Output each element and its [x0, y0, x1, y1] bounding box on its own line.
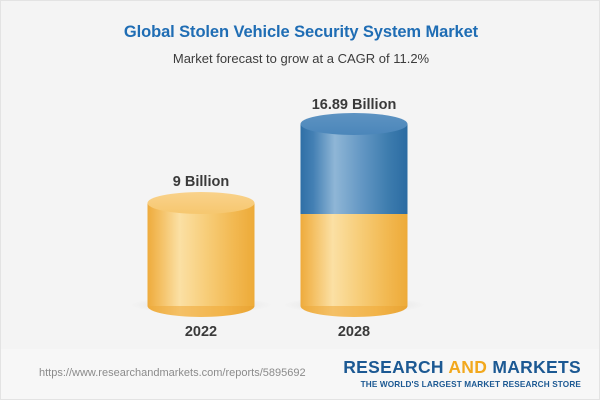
cylinder-body — [301, 214, 408, 306]
category-label-2022: 2022 — [126, 324, 276, 340]
value-label-2028: 16.89 Billion — [279, 97, 429, 113]
logo-word-markets: MARKETS — [492, 357, 581, 377]
bar-segment-base-2028 — [301, 214, 408, 306]
cylinder-cap — [148, 192, 255, 214]
logo-word-and: AND — [448, 357, 487, 377]
category-label-2028: 2028 — [279, 324, 429, 340]
cylinder-body — [301, 124, 408, 214]
value-label-2022: 9 Billion — [126, 174, 276, 190]
bar-segment-growth-2028 — [301, 124, 408, 214]
plot-area: 9 Billion 2022 16.89 Billion — [1, 1, 600, 349]
cylinder-body — [148, 203, 255, 306]
cylinder-2028 — [301, 124, 408, 306]
report-url[interactable]: https://www.researchandmarkets.com/repor… — [39, 367, 306, 379]
logo-wordmark: RESEARCH AND MARKETS — [343, 359, 581, 377]
cylinder-cap — [301, 113, 408, 135]
logo-word-research: RESEARCH — [343, 357, 444, 377]
cylinder-2022 — [148, 203, 255, 306]
chart-footer: https://www.researchandmarkets.com/repor… — [1, 349, 599, 399]
bar-segment-base-2022 — [148, 203, 255, 306]
chart-canvas: Global Stolen Vehicle Security System Ma… — [0, 0, 600, 400]
research-and-markets-logo: RESEARCH AND MARKETS THE WORLD'S LARGEST… — [343, 359, 581, 389]
logo-tagline: THE WORLD'S LARGEST MARKET RESEARCH STOR… — [343, 381, 581, 389]
